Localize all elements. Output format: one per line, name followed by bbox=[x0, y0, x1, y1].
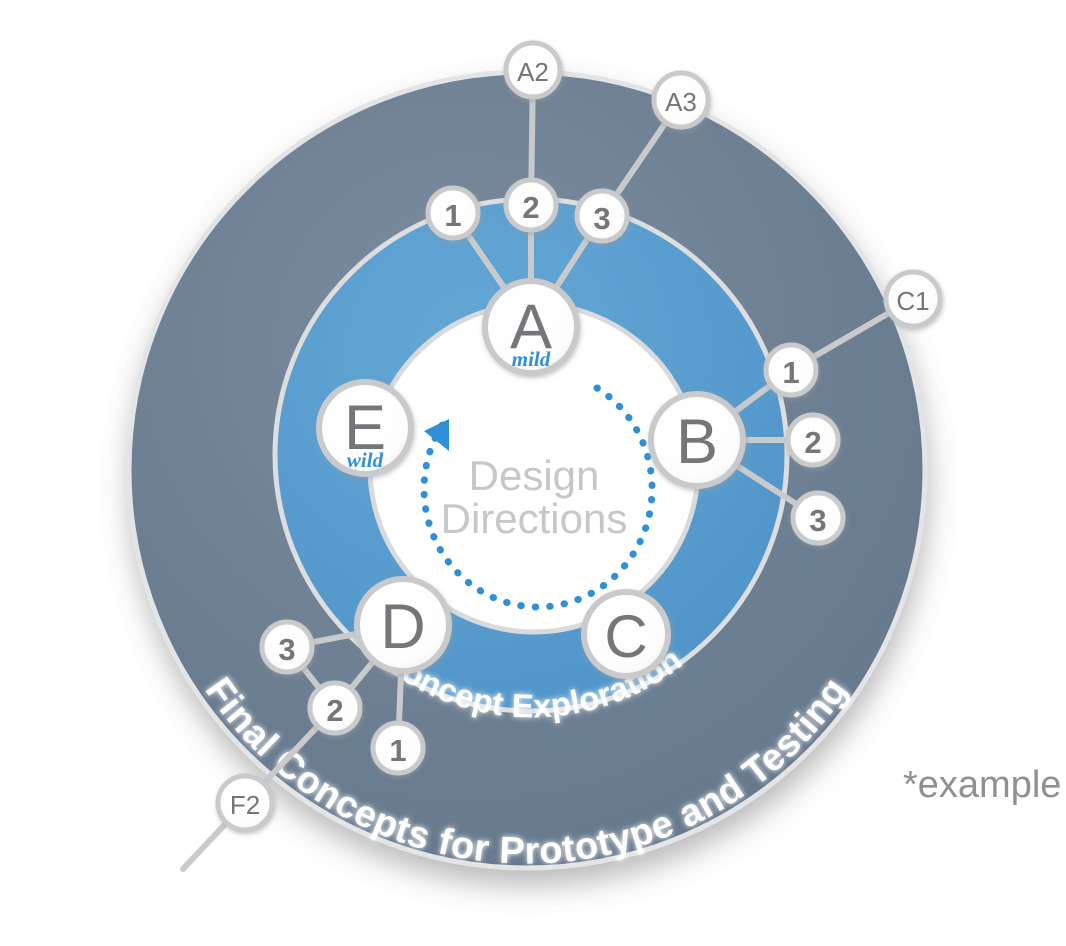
final-node-C1-label: C1 bbox=[896, 286, 929, 316]
direction-node-D[interactable]: D bbox=[357, 579, 449, 671]
concept-node-D2[interactable]: 2 bbox=[310, 683, 360, 733]
center-label-line1: Design bbox=[469, 452, 600, 499]
concept-node-D3-label: 3 bbox=[278, 632, 295, 667]
final-node-C1[interactable]: C1 bbox=[886, 272, 940, 326]
concept-node-B2[interactable]: 2 bbox=[788, 415, 838, 465]
concept-node-D1-label: 1 bbox=[389, 733, 406, 768]
direction-node-C[interactable]: C bbox=[584, 592, 668, 676]
concept-node-A1-label: 1 bbox=[444, 198, 461, 233]
concept-node-A2[interactable]: 2 bbox=[506, 180, 556, 230]
concept-node-A2-label: 2 bbox=[522, 190, 539, 225]
concept-node-A1[interactable]: 1 bbox=[428, 188, 478, 238]
final-node-A3[interactable]: A3 bbox=[654, 73, 708, 127]
concept-node-A3-label: 3 bbox=[593, 201, 610, 236]
direction-node-C-label: C bbox=[604, 603, 647, 670]
concept-node-A3[interactable]: 3 bbox=[577, 191, 627, 241]
center-label: Design Directions bbox=[441, 452, 628, 542]
direction-node-A[interactable]: A mild bbox=[485, 281, 577, 373]
concept-node-B3-label: 3 bbox=[809, 503, 826, 538]
concept-node-D2-label: 2 bbox=[326, 693, 343, 728]
example-footnote: *example bbox=[903, 764, 1061, 807]
direction-node-D-label: D bbox=[380, 592, 426, 662]
concept-node-B2-label: 2 bbox=[804, 425, 821, 460]
final-node-A2-label: A2 bbox=[517, 57, 549, 87]
final-node-A3-label: A3 bbox=[665, 87, 697, 117]
concept-node-B1[interactable]: 1 bbox=[766, 345, 816, 395]
concept-node-D1[interactable]: 1 bbox=[373, 723, 423, 773]
concept-node-B3[interactable]: 3 bbox=[793, 493, 843, 543]
final-node-F2[interactable]: F2 bbox=[218, 776, 272, 830]
direction-node-A-sublabel: mild bbox=[512, 347, 551, 371]
direction-node-E[interactable]: E wild bbox=[319, 382, 411, 474]
final-node-F2-label: F2 bbox=[230, 790, 260, 820]
center-label-line2: Directions bbox=[441, 495, 628, 542]
direction-node-B-label: B bbox=[676, 407, 718, 477]
diagram-canvas: Final Concepts for Prototype and Testing… bbox=[0, 0, 1066, 946]
final-node-A2[interactable]: A2 bbox=[506, 43, 560, 97]
direction-node-E-sublabel: wild bbox=[347, 448, 384, 472]
direction-node-B[interactable]: B bbox=[651, 394, 743, 486]
concept-node-D3[interactable]: 3 bbox=[262, 622, 312, 672]
concept-node-B1-label: 1 bbox=[782, 355, 799, 390]
